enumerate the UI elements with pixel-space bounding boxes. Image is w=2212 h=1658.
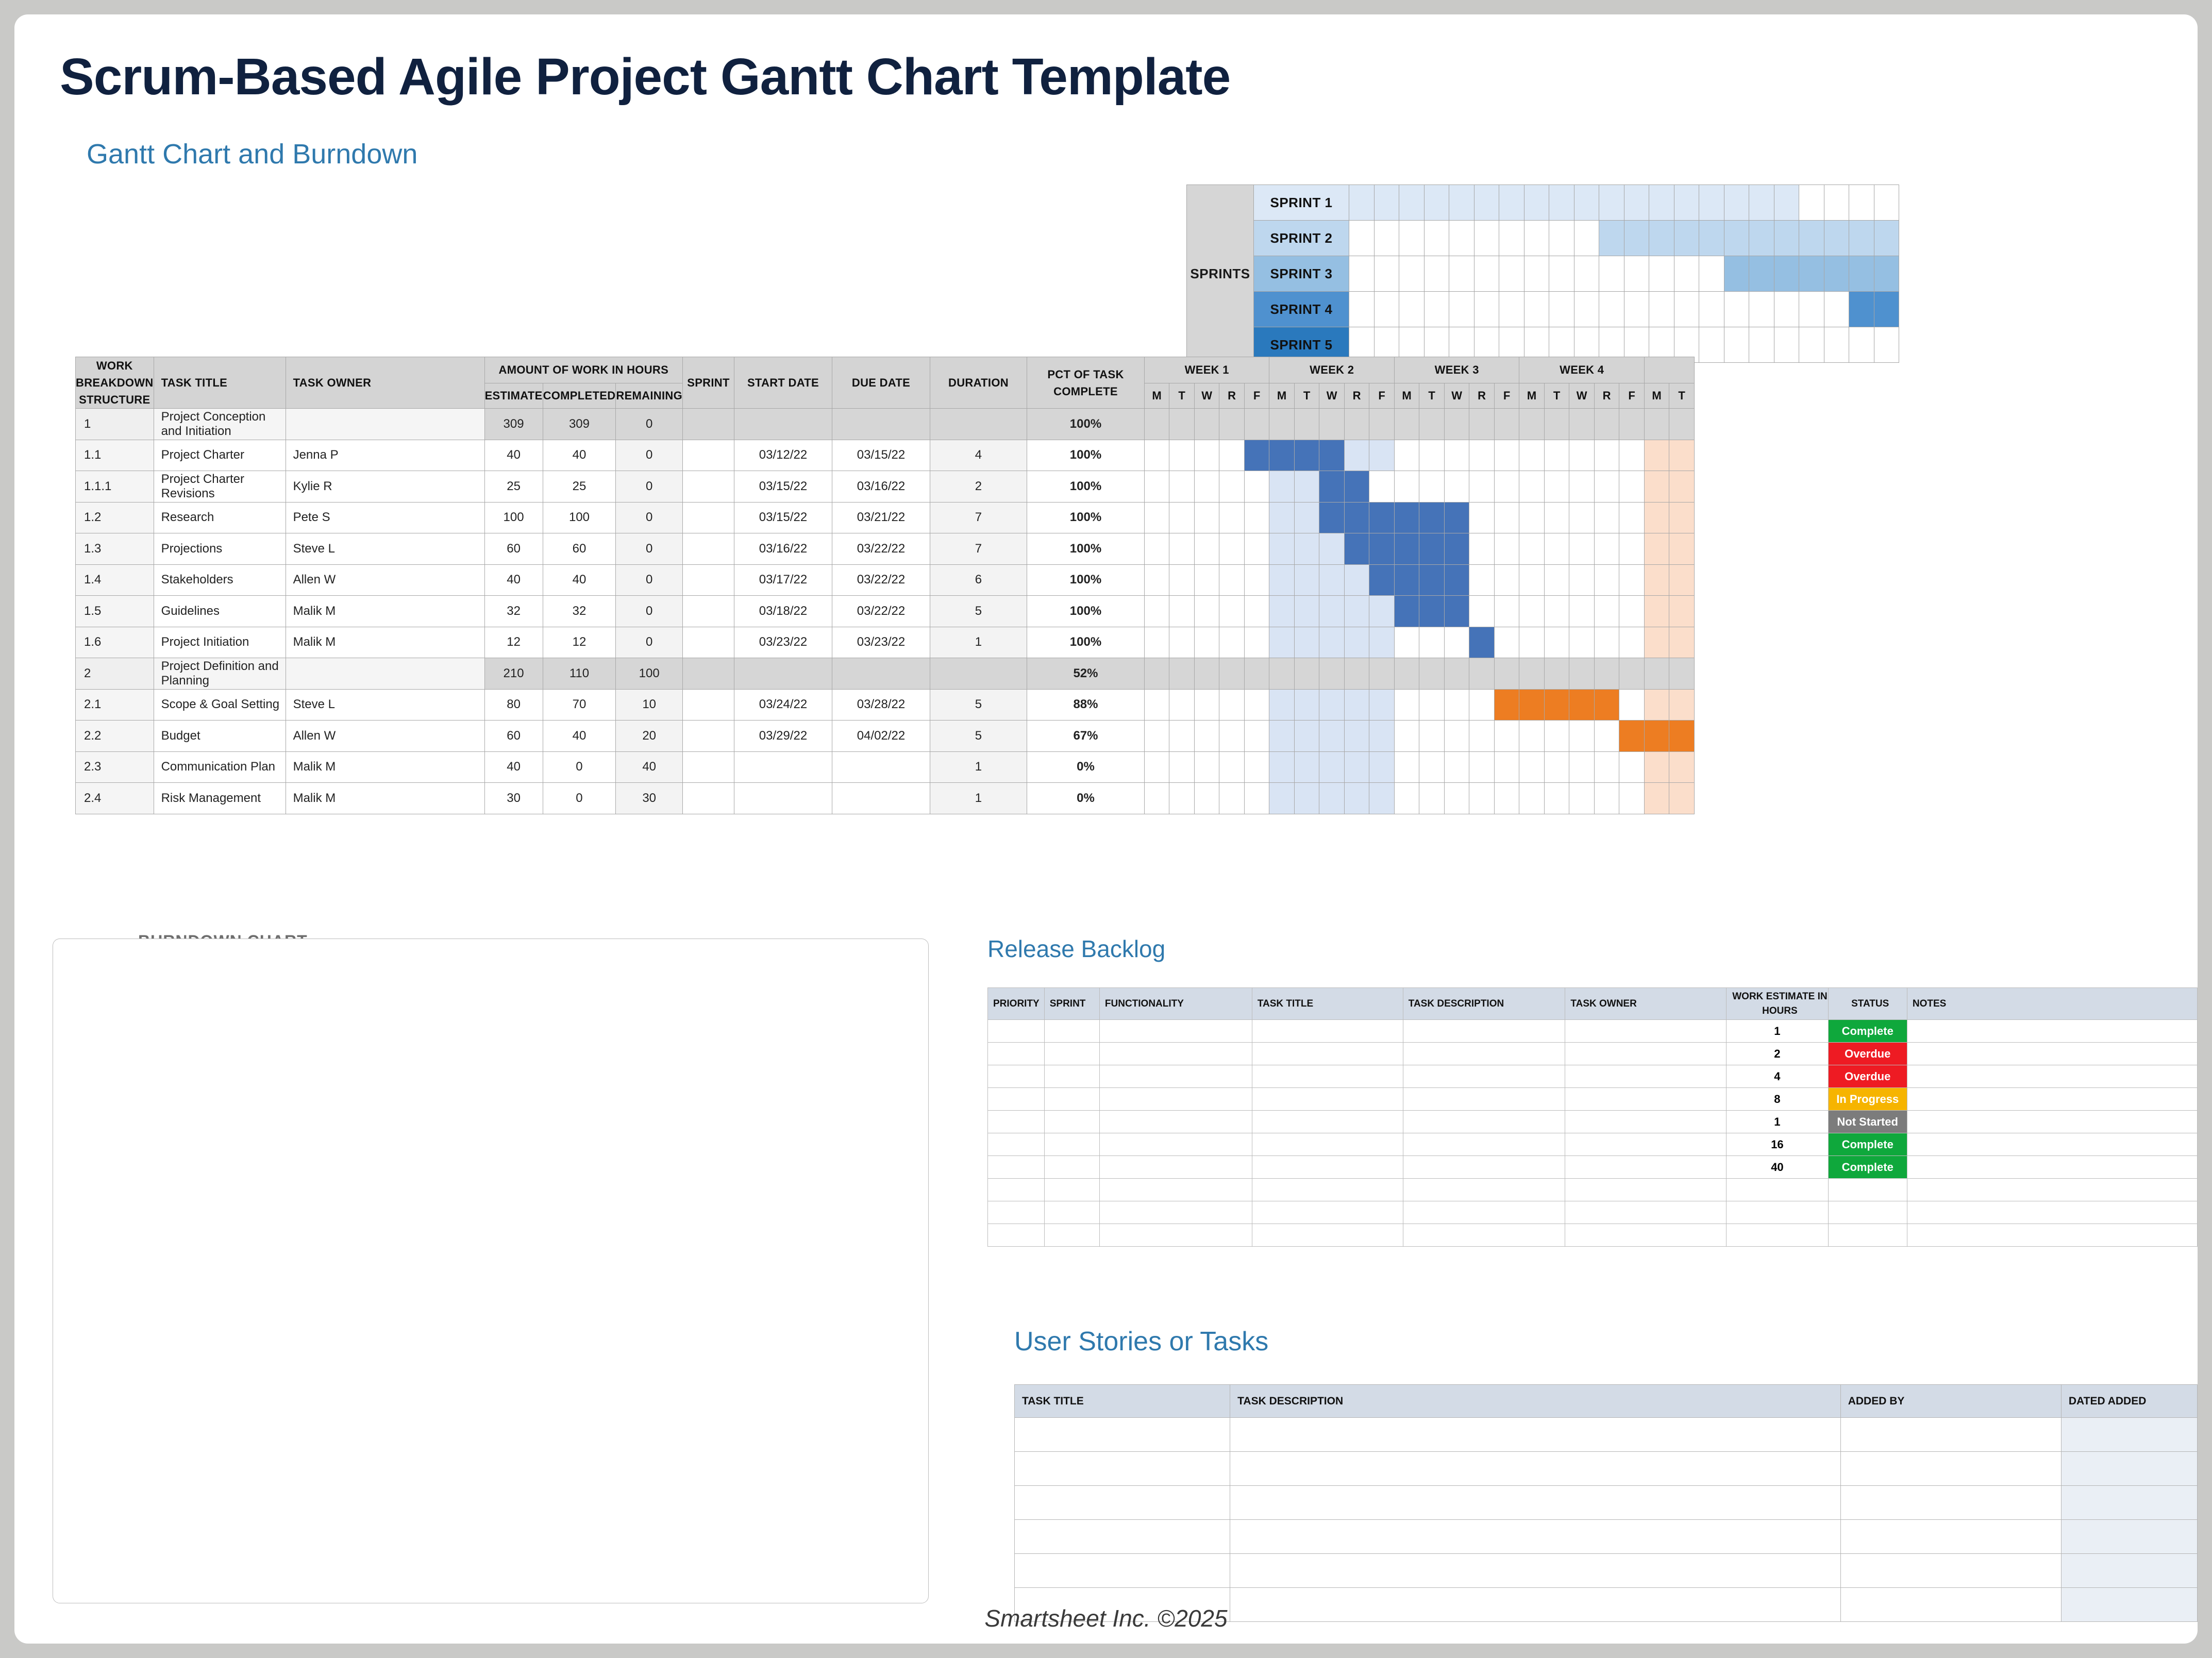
cell-priority[interactable] — [988, 1111, 1045, 1133]
user-story-row[interactable] — [1015, 1486, 2198, 1520]
sprint-timeline-cell — [1549, 256, 1574, 292]
gantt-cell — [1244, 533, 1269, 565]
day-header-R: R — [1344, 383, 1369, 408]
cell-added-by[interactable] — [1840, 1452, 2061, 1486]
gantt-cell — [1594, 564, 1619, 596]
cell-task-description[interactable] — [1403, 1133, 1565, 1156]
gantt-cell — [1394, 409, 1419, 440]
cell-dated-added[interactable] — [2061, 1554, 2197, 1588]
cell-task-title[interactable] — [1015, 1418, 1230, 1452]
gantt-cell — [1319, 689, 1345, 721]
gantt-cell — [1344, 751, 1369, 783]
cell-notes[interactable] — [1907, 1111, 2197, 1133]
cell-functionality[interactable] — [1099, 1224, 1252, 1247]
gantt-cell — [1569, 502, 1595, 533]
gantt-cell — [1319, 751, 1345, 783]
cell-notes[interactable] — [1907, 1088, 2197, 1111]
sprint-timeline-cell — [1749, 327, 1774, 363]
cell-priority[interactable] — [988, 1201, 1045, 1224]
cell-sprint[interactable] — [1044, 1224, 1099, 1247]
cell-completed: 0 — [543, 783, 616, 814]
sprint-timeline-cell — [1624, 256, 1649, 292]
week-header-2: WEEK 2 — [1269, 357, 1395, 383]
cell-completed: 12 — [543, 627, 616, 658]
cell-duration — [930, 658, 1027, 690]
gantt-cell — [1219, 627, 1245, 658]
day-header-R: R — [1469, 383, 1495, 408]
gantt-cell — [1294, 502, 1319, 533]
cell-task-description[interactable] — [1403, 1111, 1565, 1133]
gantt-cell — [1494, 502, 1519, 533]
cell-work-estimate[interactable]: 1 — [1727, 1020, 1828, 1043]
cell-priority[interactable] — [988, 1224, 1045, 1247]
cell-task-description[interactable] — [1403, 1179, 1565, 1201]
cell-task-title[interactable] — [1015, 1520, 1230, 1554]
sprint-name-cell[interactable]: SPRINT 2 — [1254, 221, 1349, 256]
cell-start-date — [734, 658, 832, 690]
gantt-cell — [1669, 658, 1695, 690]
th-task-owner: TASK OWNER — [286, 357, 484, 409]
gantt-cell — [1394, 721, 1419, 752]
gantt-cell — [1394, 783, 1419, 814]
release-backlog-row[interactable]: 40Complete — [988, 1156, 2198, 1179]
task-row[interactable]: 1.4StakeholdersAllen W4040003/17/2203/22… — [76, 564, 1695, 596]
gantt-cell — [1544, 689, 1569, 721]
cell-completed: 32 — [543, 596, 616, 627]
cell-task-owner[interactable] — [1565, 1201, 1727, 1224]
cell-estimate: 100 — [484, 502, 543, 533]
cell-status[interactable] — [1828, 1201, 1907, 1224]
gantt-cell — [1394, 502, 1419, 533]
cell-functionality[interactable] — [1099, 1088, 1252, 1111]
day-header-F: F — [1619, 383, 1645, 408]
release-backlog-row[interactable]: 8In Progress — [988, 1088, 2198, 1111]
sprint-timeline-cell — [1574, 256, 1599, 292]
gantt-cell — [1194, 658, 1219, 690]
gantt-cell — [1219, 596, 1245, 627]
gantt-cell — [1169, 409, 1195, 440]
sprint-timeline-cell — [1749, 185, 1774, 221]
gantt-cell — [1594, 471, 1619, 503]
user-stories-title: User Stories or Tasks — [1014, 1326, 1268, 1357]
task-row[interactable]: 1.1.1Project Charter RevisionsKylie R252… — [76, 471, 1695, 503]
task-row[interactable]: 1.5GuidelinesMalik M3232003/18/2203/22/2… — [76, 596, 1695, 627]
cell-notes[interactable] — [1907, 1020, 2197, 1043]
cell-pct-complete: 0% — [1027, 751, 1144, 783]
cell-remaining: 20 — [616, 721, 683, 752]
cell-status[interactable] — [1828, 1224, 1907, 1247]
cell-added-by[interactable] — [1840, 1486, 2061, 1520]
cell-task-owner[interactable] — [1565, 1224, 1727, 1247]
gantt-cell — [1594, 783, 1619, 814]
gantt-cell — [1394, 751, 1419, 783]
gantt-cell — [1419, 658, 1445, 690]
gantt-cell — [1419, 596, 1445, 627]
cell-task-title[interactable] — [1252, 1111, 1403, 1133]
gantt-cell — [1369, 783, 1395, 814]
cell-sprint — [682, 440, 734, 471]
task-row[interactable]: 2Project Definition and Planning21011010… — [76, 658, 1695, 690]
cell-notes[interactable] — [1907, 1201, 2197, 1224]
sprint-name-cell[interactable]: SPRINT 4 — [1254, 292, 1349, 327]
cell-sprint[interactable] — [1044, 1020, 1099, 1043]
task-row[interactable]: 1.1Project CharterJenna P4040003/12/2203… — [76, 440, 1695, 471]
cell-duration: 1 — [930, 751, 1027, 783]
cell-notes[interactable] — [1907, 1065, 2197, 1088]
gantt-cell — [1194, 751, 1219, 783]
gantt-cell — [1394, 471, 1419, 503]
sprint-timeline-cell — [1549, 221, 1574, 256]
cell-task-title[interactable] — [1252, 1020, 1403, 1043]
gantt-cell — [1244, 721, 1269, 752]
th-sprint: SPRINT — [682, 357, 734, 409]
gantt-cell — [1319, 658, 1345, 690]
cell-functionality[interactable] — [1099, 1065, 1252, 1088]
task-row[interactable]: 2.1Scope & Goal SettingSteve L80701003/2… — [76, 689, 1695, 721]
sprint-timeline-cell — [1674, 256, 1699, 292]
cell-work-estimate[interactable] — [1727, 1224, 1828, 1247]
release-backlog-row[interactable]: 2Overdue — [988, 1043, 2198, 1065]
cell-sprint[interactable] — [1044, 1156, 1099, 1179]
gantt-task-table: WORK BREAKDOWN STRUCTURE TASK TITLE TASK… — [75, 357, 1695, 814]
sprints-panel: SPRINTSSPRINT 1SPRINT 2SPRINT 3SPRINT 4S… — [1186, 185, 1899, 363]
cell-functionality[interactable] — [1099, 1043, 1252, 1065]
sprint-timeline-cell — [1474, 292, 1499, 327]
release-backlog-row[interactable]: 1Complete — [988, 1020, 2198, 1043]
cell-status[interactable]: In Progress — [1828, 1088, 1907, 1111]
cell-notes[interactable] — [1907, 1179, 2197, 1201]
cell-sprint — [682, 409, 734, 440]
release-backlog-row[interactable]: 4Overdue — [988, 1065, 2198, 1088]
gantt-cell — [1494, 658, 1519, 690]
gantt-cell — [1244, 596, 1269, 627]
cell-task-description[interactable] — [1403, 1088, 1565, 1111]
cell-functionality[interactable] — [1099, 1133, 1252, 1156]
cell-priority[interactable] — [988, 1156, 1045, 1179]
cell-priority[interactable] — [988, 1133, 1045, 1156]
gantt-cell — [1244, 440, 1269, 471]
us-header-added-by: ADDED BY — [1840, 1385, 2061, 1418]
gantt-cell — [1644, 409, 1669, 440]
sprint-timeline-cell — [1774, 221, 1799, 256]
cell-task-title[interactable] — [1252, 1224, 1403, 1247]
release-backlog-row[interactable] — [988, 1179, 2198, 1201]
release-backlog-row[interactable]: 1Not Started — [988, 1111, 2198, 1133]
sprint-name-cell[interactable]: SPRINT 1 — [1254, 185, 1349, 221]
gantt-cell — [1444, 751, 1469, 783]
user-story-row[interactable] — [1015, 1418, 2198, 1452]
cell-work-estimate[interactable]: 2 — [1727, 1043, 1828, 1065]
cell-duration — [930, 409, 1027, 440]
gantt-cell — [1294, 440, 1319, 471]
gantt-cell — [1169, 440, 1195, 471]
gantt-cell — [1344, 409, 1369, 440]
cell-remaining: 0 — [616, 502, 683, 533]
sprint-timeline-cell — [1474, 256, 1499, 292]
cell-task-description[interactable] — [1403, 1156, 1565, 1179]
gantt-cell — [1144, 502, 1169, 533]
cell-status[interactable]: Complete — [1828, 1020, 1907, 1043]
cell-completed: 25 — [543, 471, 616, 503]
gantt-cell — [1444, 658, 1469, 690]
gantt-cell — [1619, 751, 1645, 783]
cell-work-estimate[interactable]: 16 — [1727, 1133, 1828, 1156]
gantt-cell — [1394, 658, 1419, 690]
th-start-date: START DATE — [734, 357, 832, 409]
gantt-cell — [1519, 533, 1545, 565]
cell-priority[interactable] — [988, 1020, 1045, 1043]
cell-completed: 40 — [543, 440, 616, 471]
cell-task-description[interactable] — [1230, 1486, 1841, 1520]
cell-status[interactable] — [1828, 1179, 1907, 1201]
sprint-timeline-cell — [1799, 221, 1824, 256]
cell-notes[interactable] — [1907, 1133, 2197, 1156]
release-backlog-row[interactable] — [988, 1201, 2198, 1224]
task-row[interactable]: 1.2ResearchPete S100100003/15/2203/21/22… — [76, 502, 1695, 533]
cell-notes[interactable] — [1907, 1043, 2197, 1065]
cell-task-title[interactable] — [1015, 1452, 1230, 1486]
cell-task-description[interactable] — [1230, 1418, 1841, 1452]
cell-work-estimate[interactable]: 8 — [1727, 1088, 1828, 1111]
gantt-cell — [1669, 502, 1695, 533]
gantt-cell — [1244, 658, 1269, 690]
th-amount-of-work: AMOUNT OF WORK IN HOURS — [484, 357, 682, 383]
cell-estimate: 30 — [484, 783, 543, 814]
cell-due-date — [832, 409, 930, 440]
gantt-cell — [1219, 721, 1245, 752]
cell-task-owner: Malik M — [286, 627, 484, 658]
sprint-timeline-cell — [1799, 185, 1824, 221]
gantt-cell — [1469, 564, 1495, 596]
gantt-cell — [1219, 658, 1245, 690]
cell-sprint[interactable] — [1044, 1088, 1099, 1111]
cell-task-description[interactable] — [1403, 1201, 1565, 1224]
cell-sprint[interactable] — [1044, 1043, 1099, 1065]
cell-task-title[interactable] — [1252, 1133, 1403, 1156]
cell-added-by[interactable] — [1840, 1418, 2061, 1452]
cell-work-estimate[interactable] — [1727, 1179, 1828, 1201]
cell-completed: 70 — [543, 689, 616, 721]
cell-task-owner[interactable] — [1565, 1156, 1727, 1179]
cell-estimate: 25 — [484, 471, 543, 503]
day-header-M: M — [1519, 383, 1545, 408]
cell-priority[interactable] — [988, 1088, 1045, 1111]
task-row[interactable]: 1.6Project InitiationMalik M1212003/23/2… — [76, 627, 1695, 658]
cell-remaining: 30 — [616, 783, 683, 814]
sprint-timeline-cell — [1724, 292, 1749, 327]
cell-pct-complete: 100% — [1027, 596, 1144, 627]
cell-task-description[interactable] — [1403, 1224, 1565, 1247]
cell-task-description[interactable] — [1403, 1065, 1565, 1088]
cell-sprint[interactable] — [1044, 1065, 1099, 1088]
gantt-cell — [1169, 658, 1195, 690]
cell-task-owner[interactable] — [1565, 1111, 1727, 1133]
cell-task-owner[interactable] — [1565, 1065, 1727, 1088]
sprint-timeline-cell — [1849, 327, 1874, 363]
cell-sprint[interactable] — [1044, 1133, 1099, 1156]
cell-task-owner: Allen W — [286, 721, 484, 752]
sprint-row: SPRINT 4 — [1187, 292, 1899, 327]
cell-task-owner[interactable] — [1565, 1088, 1727, 1111]
cell-remaining: 10 — [616, 689, 683, 721]
sprint-timeline-cell — [1374, 221, 1399, 256]
gantt-cell — [1219, 564, 1245, 596]
cell-sprint[interactable] — [1044, 1179, 1099, 1201]
day-header-T: T — [1294, 383, 1319, 408]
gantt-cell — [1644, 564, 1669, 596]
sprint-timeline-cell — [1399, 292, 1425, 327]
gantt-cell — [1319, 471, 1345, 503]
cell-task-description[interactable] — [1403, 1020, 1565, 1043]
gantt-cell — [1194, 689, 1219, 721]
cell-task-title: Project Charter — [154, 440, 286, 471]
gantt-cell — [1669, 689, 1695, 721]
cell-dated-added[interactable] — [2061, 1486, 2197, 1520]
task-row[interactable]: 1Project Conception and Initiation309309… — [76, 409, 1695, 440]
cell-due-date — [832, 751, 930, 783]
gantt-cell — [1619, 658, 1645, 690]
cell-functionality[interactable] — [1099, 1201, 1252, 1224]
gantt-cell — [1494, 533, 1519, 565]
cell-task-title[interactable] — [1252, 1065, 1403, 1088]
cell-task-title[interactable] — [1015, 1486, 1230, 1520]
gantt-cell — [1269, 658, 1295, 690]
gantt-cell — [1569, 564, 1595, 596]
cell-task-description[interactable] — [1230, 1520, 1841, 1554]
gantt-cell — [1544, 440, 1569, 471]
cell-work-estimate[interactable]: 1 — [1727, 1111, 1828, 1133]
sprint-timeline-cell — [1599, 292, 1624, 327]
cell-task-owner[interactable] — [1565, 1179, 1727, 1201]
cell-notes[interactable] — [1907, 1224, 2197, 1247]
cell-task-title: Projections — [154, 533, 286, 565]
cell-task-title[interactable] — [1252, 1088, 1403, 1111]
cell-task-description[interactable] — [1403, 1043, 1565, 1065]
cell-status[interactable]: Complete — [1828, 1156, 1907, 1179]
cell-functionality[interactable] — [1099, 1020, 1252, 1043]
task-row[interactable]: 2.2BudgetAllen W60402003/29/2204/02/2256… — [76, 721, 1695, 752]
gantt-cell — [1269, 751, 1295, 783]
gantt-cell — [1569, 409, 1595, 440]
gantt-cell — [1469, 596, 1495, 627]
cell-functionality[interactable] — [1099, 1156, 1252, 1179]
cell-task-title[interactable] — [1252, 1179, 1403, 1201]
gantt-cell — [1644, 627, 1669, 658]
cell-task-owner[interactable] — [1565, 1043, 1727, 1065]
cell-functionality[interactable] — [1099, 1111, 1252, 1133]
cell-due-date: 03/15/22 — [832, 440, 930, 471]
cell-dated-added[interactable] — [2061, 1452, 2197, 1486]
cell-priority[interactable] — [988, 1179, 1045, 1201]
cell-task-owner: Steve L — [286, 533, 484, 565]
gantt-cell — [1144, 409, 1169, 440]
gantt-cell — [1669, 627, 1695, 658]
cell-priority[interactable] — [988, 1043, 1045, 1065]
cell-priority[interactable] — [988, 1065, 1045, 1088]
gantt-cell — [1669, 721, 1695, 752]
gantt-cell — [1269, 409, 1295, 440]
cell-added-by[interactable] — [1840, 1554, 2061, 1588]
gantt-cell — [1419, 471, 1445, 503]
cell-task-title[interactable] — [1015, 1554, 1230, 1588]
sprint-timeline-cell — [1424, 185, 1449, 221]
cell-dated-added[interactable] — [2061, 1418, 2197, 1452]
release-backlog-row[interactable]: 16Complete — [988, 1133, 2198, 1156]
cell-task-owner[interactable] — [1565, 1133, 1727, 1156]
task-row[interactable]: 2.3Communication PlanMalik M4004010% — [76, 751, 1695, 783]
gantt-cell — [1469, 783, 1495, 814]
cell-estimate: 210 — [484, 658, 543, 690]
cell-estimate: 60 — [484, 721, 543, 752]
cell-completed: 40 — [543, 721, 616, 752]
gantt-cell — [1644, 721, 1669, 752]
sprint-timeline-cell — [1349, 256, 1375, 292]
sprint-timeline-cell — [1449, 292, 1474, 327]
gantt-cell — [1169, 533, 1195, 565]
cell-functionality[interactable] — [1099, 1179, 1252, 1201]
user-story-row[interactable] — [1015, 1554, 2198, 1588]
task-row[interactable]: 1.3ProjectionsSteve L6060003/16/2203/22/… — [76, 533, 1695, 565]
gantt-cell — [1394, 596, 1419, 627]
cell-work-estimate[interactable] — [1727, 1201, 1828, 1224]
user-story-row[interactable] — [1015, 1452, 2198, 1486]
gantt-cell — [1519, 502, 1545, 533]
cell-task-title[interactable] — [1252, 1201, 1403, 1224]
cell-wbs: 2.2 — [76, 721, 154, 752]
cell-status[interactable]: Not Started — [1828, 1111, 1907, 1133]
cell-dated-added[interactable] — [2061, 1520, 2197, 1554]
gantt-cell — [1369, 596, 1395, 627]
cell-estimate: 40 — [484, 751, 543, 783]
gantt-cell — [1544, 533, 1569, 565]
cell-task-title[interactable] — [1252, 1156, 1403, 1179]
cell-task-description[interactable] — [1230, 1554, 1841, 1588]
cell-notes[interactable] — [1907, 1156, 2197, 1179]
user-story-row[interactable] — [1015, 1520, 2198, 1554]
release-backlog-row[interactable] — [988, 1224, 2198, 1247]
sprint-name-cell[interactable]: SPRINT 3 — [1254, 256, 1349, 292]
cell-task-description[interactable] — [1230, 1452, 1841, 1486]
cell-task-title[interactable] — [1252, 1043, 1403, 1065]
cell-work-estimate[interactable]: 4 — [1727, 1065, 1828, 1088]
user-stories-table: TASK TITLETASK DESCRIPTIONADDED BYDATED … — [1014, 1384, 2198, 1622]
cell-added-by[interactable] — [1840, 1520, 2061, 1554]
gantt-cell — [1169, 721, 1195, 752]
gantt-cell — [1469, 721, 1495, 752]
gantt-cell — [1344, 721, 1369, 752]
gantt-cell — [1469, 689, 1495, 721]
cell-status[interactable]: Overdue — [1828, 1043, 1907, 1065]
gantt-cell — [1444, 409, 1469, 440]
cell-pct-complete: 100% — [1027, 471, 1144, 503]
sprint-timeline-cell — [1699, 185, 1724, 221]
task-row[interactable]: 2.4Risk ManagementMalik M3003010% — [76, 783, 1695, 814]
cell-estimate: 40 — [484, 564, 543, 596]
gantt-cell — [1194, 440, 1219, 471]
cell-pct-complete: 100% — [1027, 409, 1144, 440]
cell-sprint[interactable] — [1044, 1201, 1099, 1224]
rb-header-notes: NOTES — [1907, 988, 2197, 1020]
cell-task-owner[interactable] — [1565, 1020, 1727, 1043]
cell-status[interactable]: Complete — [1828, 1133, 1907, 1156]
gantt-cell — [1294, 751, 1319, 783]
gantt-cell — [1544, 564, 1569, 596]
cell-work-estimate[interactable]: 40 — [1727, 1156, 1828, 1179]
gantt-cell — [1494, 721, 1519, 752]
cell-status[interactable]: Overdue — [1828, 1065, 1907, 1088]
cell-sprint[interactable] — [1044, 1111, 1099, 1133]
gantt-cell — [1619, 564, 1645, 596]
